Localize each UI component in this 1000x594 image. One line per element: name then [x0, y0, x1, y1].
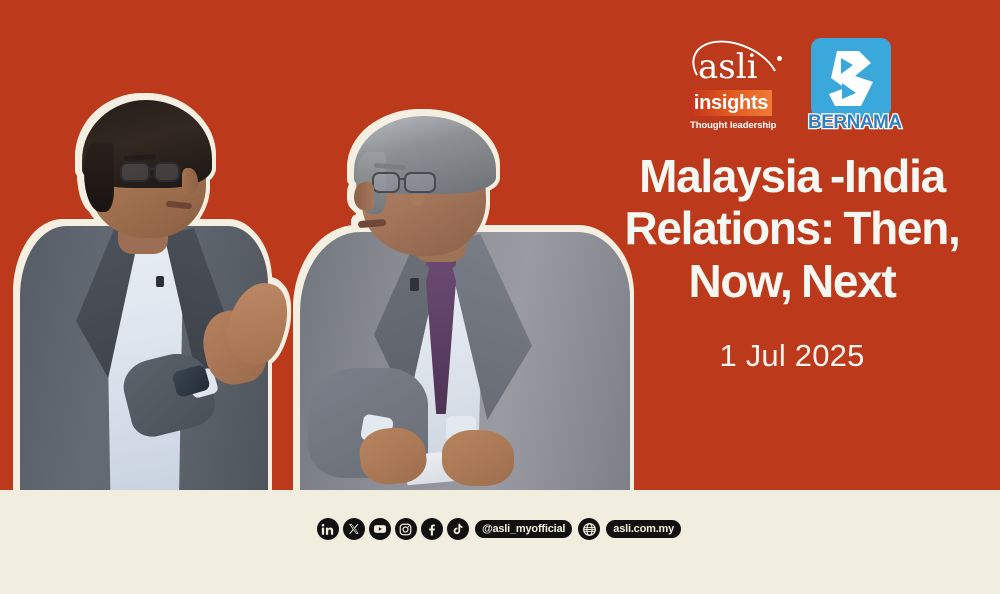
facebook-icon[interactable] — [421, 518, 443, 540]
x-twitter-icon[interactable] — [343, 518, 365, 540]
footer-bar: @asli_myofficial asli.com.my — [0, 490, 1000, 594]
asli-insights-badge: insights — [690, 90, 772, 116]
asli-insights-label: insights — [694, 92, 768, 115]
bernama-tile-icon — [811, 38, 891, 118]
event-date: 1 Jul 2025 — [596, 338, 988, 374]
website-url[interactable]: asli.com.my — [606, 520, 681, 538]
asli-insights-logo: asli insights Thought leadership — [690, 38, 786, 136]
speaker-left-cutout — [14, 98, 314, 490]
speaker-right-cutout — [296, 116, 640, 490]
poster-canvas: asli insights Thought leadership BERNAMA — [0, 0, 1000, 490]
linkedin-icon[interactable] — [317, 518, 339, 540]
bernama-logo: BERNAMA — [808, 38, 894, 136]
page-title: Malaysia -India Relations: Then, Now, Ne… — [596, 150, 988, 307]
social-links-row: @asli_myofficial asli.com.my — [0, 518, 1000, 540]
poster-root: asli insights Thought leadership BERNAMA — [0, 0, 1000, 594]
bernama-wordmark: BERNAMA — [808, 112, 894, 134]
globe-icon[interactable] — [578, 518, 600, 540]
asli-arc-dot-icon — [777, 56, 782, 61]
tiktok-icon[interactable] — [447, 518, 469, 540]
speaker-photo — [0, 0, 640, 490]
logo-row: asli insights Thought leadership BERNAMA — [690, 38, 894, 136]
asli-tagline: Thought leadership — [690, 120, 774, 131]
youtube-icon[interactable] — [369, 518, 391, 540]
social-handle[interactable]: @asli_myofficial — [475, 520, 572, 538]
asli-wordmark: asli — [698, 50, 757, 84]
instagram-icon[interactable] — [395, 518, 417, 540]
